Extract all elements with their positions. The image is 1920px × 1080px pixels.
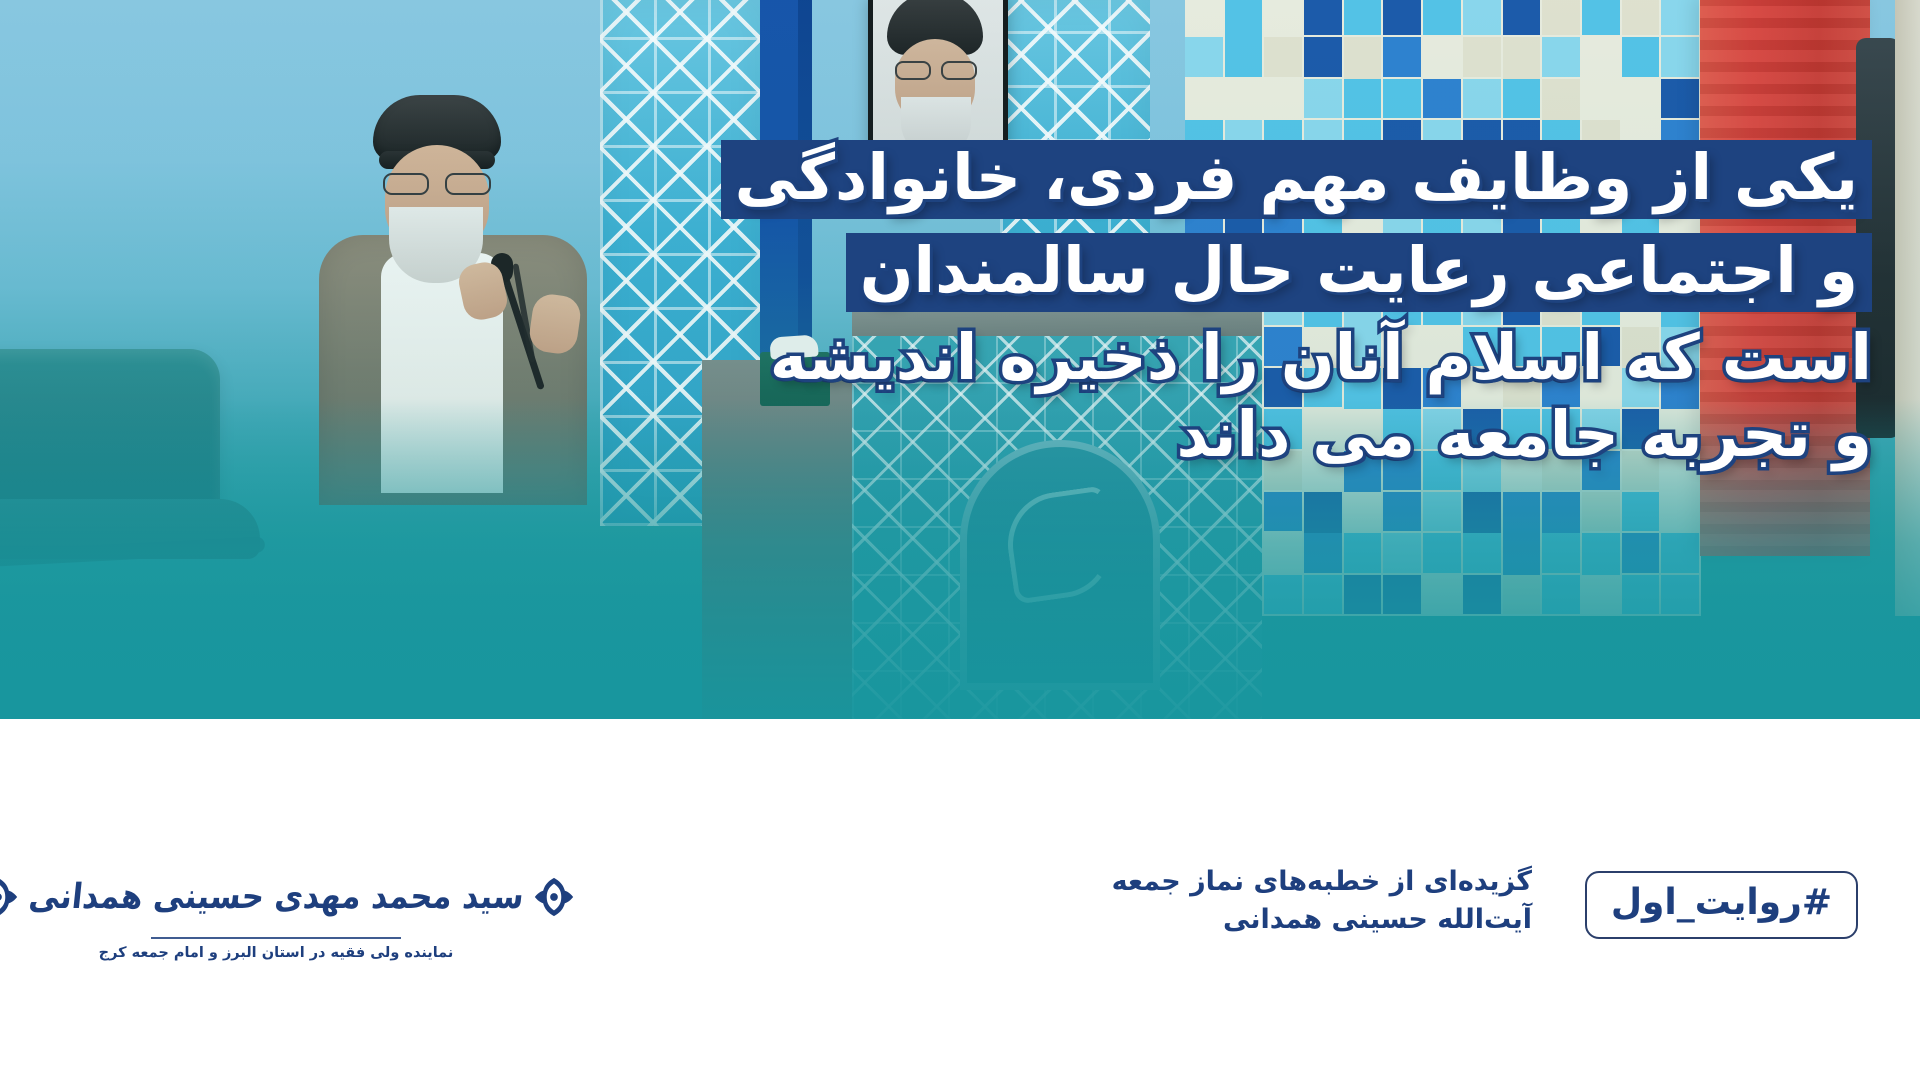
mosaic-tile [1622, 0, 1660, 35]
mosaic-tile [1582, 0, 1620, 35]
mosaic-tile [1542, 37, 1580, 76]
arabesque-ornament-right-icon [0, 874, 21, 920]
mosaic-tile [1423, 0, 1461, 35]
mosaic-tile [1463, 79, 1501, 118]
mosaic-tile [1661, 79, 1699, 118]
mosaic-tile [1542, 0, 1580, 35]
headline-block: یکی از وظایف مهم فردی، خانوادگی و اجتماع… [612, 140, 1872, 480]
arabesque-ornament-left-icon [531, 874, 577, 920]
series-caption: گزیده‌ای از خطبه‌های نماز جمعه آیت‌الله … [1112, 865, 1532, 937]
mosaic-tile [1225, 79, 1263, 118]
mosaic-tile [1264, 0, 1302, 35]
mosaic-tile [1622, 37, 1660, 76]
mosaic-tile [1582, 79, 1620, 118]
mosaic-tile [1622, 79, 1660, 118]
mosaic-tile [1661, 37, 1699, 76]
mosaic-tile [1383, 37, 1421, 76]
headline-line-2: و اجتماعی رعایت حال سالمندان [846, 233, 1872, 312]
caption-line-1: گزیده‌ای از خطبه‌های نماز جمعه [1112, 865, 1532, 899]
mosaic-tile [1661, 0, 1699, 35]
organization-logo[interactable]: سید محمد مهدی حسینی همدانی نماینده ولی ف… [96, 861, 456, 961]
portrait-glasses-icon [893, 61, 979, 76]
mosaic-tile [1264, 37, 1302, 76]
mosaic-tile [1304, 37, 1342, 76]
speaker-glasses-icon [381, 173, 493, 191]
hashtag-label: #روایت_اول [1611, 885, 1832, 921]
poster-root: یکی از وظایف مهم فردی، خانوادگی و اجتماع… [0, 0, 1920, 1080]
headline-line-3: است که اسلام آنان را ذخیره اندیشه [612, 326, 1872, 389]
mosaic-tile [1503, 0, 1541, 35]
logo-calligraphy-mark: سید محمد مهدی حسینی همدانی [96, 861, 456, 933]
mosaic-tile [1304, 79, 1342, 118]
mosaic-tile [1225, 37, 1263, 76]
logo-name-text: سید محمد مهدی حسینی همدانی [27, 879, 526, 915]
headline-line-4: و تجربه جامعه می داند [612, 403, 1872, 466]
footer-bar: سید محمد مهدی حسینی همدانی نماینده ولی ف… [0, 719, 1920, 1080]
mosaic-tile [1304, 0, 1342, 35]
hashtag-badge[interactable]: #روایت_اول [1585, 871, 1858, 939]
mosaic-tile [1423, 37, 1461, 76]
mosaic-tile [1344, 0, 1382, 35]
mosaic-tile [1383, 79, 1421, 118]
mosaic-tile [1185, 0, 1223, 35]
mosaic-tile [1264, 79, 1302, 118]
mosaic-tile [1344, 79, 1382, 118]
mosaic-tile [1503, 79, 1541, 118]
mosaic-tile [1463, 37, 1501, 76]
logo-subtitle: نماینده ولی فقیه در استان البرز و امام ج… [96, 945, 456, 961]
mosaic-tile [1423, 79, 1461, 118]
logo-divider [151, 937, 401, 939]
headline-line-1: یکی از وظایف مهم فردی، خانوادگی [721, 140, 1872, 219]
caption-line-2: آیت‌الله حسینی همدانی [1112, 903, 1532, 937]
mosaic-tile [1185, 79, 1223, 118]
mosaic-tile [1383, 0, 1421, 35]
mosaic-tile [1463, 0, 1501, 35]
mosaic-tile [1185, 37, 1223, 76]
